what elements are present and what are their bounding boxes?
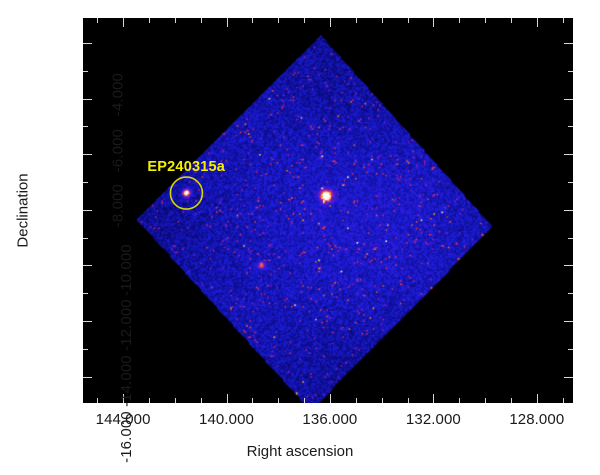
x-axis-tick-label: 128.000	[509, 411, 564, 428]
y-axis-right-major-tick	[564, 377, 573, 378]
x-axis-tick-label: 132.000	[406, 411, 461, 428]
x-axis-tick-label: 140.000	[199, 411, 254, 428]
x-axis-top-minor-tick	[304, 18, 305, 23]
x-axis-top-minor-tick	[485, 18, 486, 23]
x-axis-minor-tick	[485, 398, 486, 403]
y-axis-major-tick	[83, 265, 92, 266]
y-axis-tick-label: -14.000	[118, 355, 135, 407]
x-axis-top-minor-tick	[175, 18, 176, 23]
y-axis-right-major-tick	[564, 154, 573, 155]
x-axis-top-minor-tick	[149, 18, 150, 23]
y-axis-major-tick	[83, 321, 92, 322]
y-axis-tick-label: -8.000	[110, 184, 127, 227]
x-axis-top-minor-tick	[201, 18, 202, 23]
x-axis-minor-tick	[201, 398, 202, 403]
y-axis-minor-tick	[83, 182, 88, 183]
x-axis-minor-tick	[382, 398, 383, 403]
x-axis-top-minor-tick	[356, 18, 357, 23]
sky-image-plot-area: EP240315a	[83, 18, 573, 403]
x-axis-top-major-tick	[433, 18, 434, 27]
x-axis-minor-tick	[563, 398, 564, 403]
x-axis-major-tick	[537, 394, 538, 403]
y-axis-tick-label: -10.000	[118, 244, 135, 296]
y-axis-tick-label: -4.000	[110, 73, 127, 116]
x-axis-top-major-tick	[330, 18, 331, 27]
y-axis-minor-tick	[83, 126, 88, 127]
x-axis-minor-tick	[511, 398, 512, 403]
x-axis-top-minor-tick	[252, 18, 253, 23]
x-axis-minor-tick	[252, 398, 253, 403]
y-axis-major-tick	[83, 154, 92, 155]
x-axis-top-major-tick	[537, 18, 538, 27]
x-axis-top-minor-tick	[459, 18, 460, 23]
y-axis-major-tick	[83, 377, 92, 378]
y-axis-right-major-tick	[564, 43, 573, 44]
y-axis-tick-label: -16.000	[118, 411, 135, 463]
y-axis-major-tick	[83, 43, 92, 44]
y-axis-right-minor-tick	[568, 238, 573, 239]
y-axis-right-minor-tick	[568, 349, 573, 350]
y-axis-right-major-tick	[564, 265, 573, 266]
x-axis-minor-tick	[97, 398, 98, 403]
x-axis-minor-tick	[459, 398, 460, 403]
x-axis-major-tick	[330, 394, 331, 403]
x-axis-minor-tick	[304, 398, 305, 403]
transient-source-label: EP240315a	[147, 159, 225, 175]
x-axis-minor-tick	[356, 398, 357, 403]
x-axis-minor-tick	[175, 398, 176, 403]
y-axis-minor-tick	[83, 293, 88, 294]
x-axis-minor-tick	[278, 398, 279, 403]
y-axis-tick-label: -12.000	[118, 300, 135, 352]
x-axis-tick-label: 136.000	[302, 411, 357, 428]
transient-source-circle-marker	[170, 177, 202, 209]
y-axis-major-tick	[83, 99, 92, 100]
y-axis-minor-tick	[83, 349, 88, 350]
y-axis-right-major-tick	[564, 210, 573, 211]
x-axis-top-minor-tick	[408, 18, 409, 23]
x-axis-top-minor-tick	[382, 18, 383, 23]
xray-sky-image-figure: EP240315a Right ascension Declination 14…	[0, 0, 600, 475]
x-axis-top-minor-tick	[563, 18, 564, 23]
y-axis-right-major-tick	[564, 99, 573, 100]
x-axis-minor-tick	[408, 398, 409, 403]
y-axis-title: Declination	[15, 121, 32, 301]
x-axis-top-minor-tick	[278, 18, 279, 23]
y-axis-right-major-tick	[564, 321, 573, 322]
x-axis-title: Right ascension	[0, 443, 600, 460]
y-axis-minor-tick	[83, 238, 88, 239]
y-axis-tick-label: -6.000	[110, 129, 127, 172]
y-axis-right-minor-tick	[568, 182, 573, 183]
y-axis-right-minor-tick	[568, 71, 573, 72]
x-axis-top-minor-tick	[97, 18, 98, 23]
x-axis-minor-tick	[149, 398, 150, 403]
source-annotation-layer	[83, 18, 573, 403]
x-axis-top-major-tick	[227, 18, 228, 27]
x-axis-major-tick	[433, 394, 434, 403]
x-axis-major-tick	[227, 394, 228, 403]
x-axis-top-minor-tick	[511, 18, 512, 23]
y-axis-major-tick	[83, 210, 92, 211]
y-axis-right-minor-tick	[568, 126, 573, 127]
x-axis-top-major-tick	[123, 18, 124, 27]
y-axis-minor-tick	[83, 71, 88, 72]
y-axis-right-minor-tick	[568, 293, 573, 294]
